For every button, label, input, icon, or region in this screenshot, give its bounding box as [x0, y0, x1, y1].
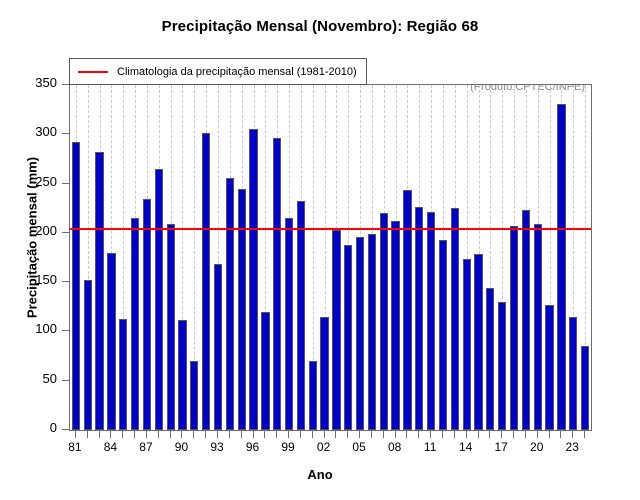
x-tick: [300, 431, 301, 438]
x-tick: [264, 431, 265, 438]
x-tick-label-14: 14: [451, 440, 481, 454]
bar-92: [202, 133, 210, 430]
y-tick: [62, 133, 69, 134]
bar-99: [285, 218, 293, 430]
bar-97: [261, 312, 269, 430]
x-tick-label-81: 81: [60, 440, 90, 454]
bar-96: [249, 129, 257, 430]
x-tick: [75, 431, 76, 438]
climatology-reference-line: [70, 228, 591, 230]
x-tick: [513, 431, 514, 438]
bar-98: [273, 138, 281, 430]
bar-07: [380, 213, 388, 430]
y-tick: [62, 429, 69, 430]
bar-81: [72, 142, 80, 430]
x-tick: [335, 431, 336, 438]
bar-85: [119, 319, 127, 430]
legend: Climatologia da precipitação mensal (198…: [69, 58, 367, 85]
bar-08: [391, 221, 399, 430]
x-tick: [525, 431, 526, 438]
bar-11: [427, 212, 435, 430]
plot-inner: (Produto:CPTEC/INPE): [70, 85, 591, 430]
x-tick-label-84: 84: [95, 440, 125, 454]
bar-16: [486, 288, 494, 430]
bar-21: [545, 305, 553, 430]
bar-20: [534, 224, 542, 430]
bar-17: [498, 302, 506, 430]
x-tick-label-02: 02: [309, 440, 339, 454]
x-tick: [146, 431, 147, 438]
bar-09: [403, 190, 411, 431]
x-tick: [406, 431, 407, 438]
y-axis-title: Precipitação mensal (mm): [25, 118, 40, 358]
bar-14: [463, 259, 471, 431]
x-tick: [371, 431, 372, 438]
y-tick-label-350: 350: [17, 75, 57, 90]
x-tick: [395, 431, 396, 438]
x-tick-label-11: 11: [415, 440, 445, 454]
y-tick: [62, 380, 69, 381]
bar-82: [84, 280, 92, 430]
x-tick-label-99: 99: [273, 440, 303, 454]
x-tick: [324, 431, 325, 438]
x-tick: [229, 431, 230, 438]
bar-01: [309, 361, 317, 430]
x-tick: [383, 431, 384, 438]
bar-02: [320, 317, 328, 430]
bar-04: [344, 245, 352, 430]
x-tick: [217, 431, 218, 438]
x-tick: [359, 431, 360, 438]
bar-10: [415, 207, 423, 430]
x-tick-label-96: 96: [238, 440, 268, 454]
x-tick: [181, 431, 182, 438]
x-tick: [418, 431, 419, 438]
x-tick: [288, 431, 289, 438]
bar-22: [557, 104, 565, 430]
bar-03: [332, 230, 340, 430]
x-tick: [193, 431, 194, 438]
bar-18: [510, 226, 518, 430]
bar-13: [451, 208, 459, 430]
bar-05: [356, 237, 364, 430]
x-tick-label-87: 87: [131, 440, 161, 454]
bar-88: [155, 169, 163, 430]
product-tag: (Produto:CPTEC/INPE): [470, 84, 585, 93]
bar-84: [107, 253, 115, 430]
x-tick-label-23: 23: [557, 440, 587, 454]
x-tick: [454, 431, 455, 438]
x-tick: [537, 431, 538, 438]
x-tick: [158, 431, 159, 438]
x-axis-title: Ano: [0, 467, 640, 482]
x-tick: [134, 431, 135, 438]
x-tick: [501, 431, 502, 438]
plot-area: (Produto:CPTEC/INPE): [69, 84, 592, 431]
x-tick: [87, 431, 88, 438]
bar-87: [143, 199, 151, 430]
bar-19: [522, 210, 530, 430]
x-tick: [466, 431, 467, 438]
x-tick: [99, 431, 100, 438]
x-tick-label-05: 05: [344, 440, 374, 454]
x-tick: [442, 431, 443, 438]
y-tick: [62, 183, 69, 184]
x-tick: [312, 431, 313, 438]
x-tick: [584, 431, 585, 438]
y-tick: [62, 330, 69, 331]
x-tick-label-93: 93: [202, 440, 232, 454]
x-tick-label-17: 17: [486, 440, 516, 454]
page-title: Precipitação Mensal (Novembro): Região 6…: [0, 18, 640, 35]
legend-label-climatologia: Climatologia da precipitação mensal (198…: [117, 66, 357, 78]
bar-83: [95, 152, 103, 430]
y-tick-label-0: 0: [17, 420, 57, 435]
x-tick-label-90: 90: [166, 440, 196, 454]
x-tick: [560, 431, 561, 438]
y-tick: [62, 281, 69, 282]
bar-23: [569, 317, 577, 430]
bar-15: [474, 254, 482, 430]
x-tick: [347, 431, 348, 438]
x-tick: [572, 431, 573, 438]
bar-94: [226, 178, 234, 430]
x-tick: [549, 431, 550, 438]
x-tick: [489, 431, 490, 438]
bar-06: [368, 234, 376, 430]
x-tick-label-20: 20: [522, 440, 552, 454]
bar-undefined: [581, 346, 589, 430]
y-tick: [62, 84, 69, 85]
x-tick: [170, 431, 171, 438]
chart-root: Precipitação Mensal (Novembro): Região 6…: [0, 0, 640, 500]
x-tick: [205, 431, 206, 438]
x-tick: [430, 431, 431, 438]
legend-line-swatch: [78, 71, 108, 73]
x-tick: [276, 431, 277, 438]
x-tick-label-08: 08: [380, 440, 410, 454]
bar-95: [238, 189, 246, 431]
x-tick: [478, 431, 479, 438]
x-tick: [110, 431, 111, 438]
bar-86: [131, 218, 139, 430]
bar-93: [214, 264, 222, 430]
bar-89: [167, 224, 175, 430]
bar-12: [439, 240, 447, 430]
bar-00: [297, 201, 305, 430]
x-tick: [253, 431, 254, 438]
x-tick: [241, 431, 242, 438]
y-tick-label-50: 50: [17, 371, 57, 386]
bar-91: [190, 361, 198, 430]
y-tick: [62, 232, 69, 233]
bar-90: [178, 320, 186, 430]
x-tick: [122, 431, 123, 438]
